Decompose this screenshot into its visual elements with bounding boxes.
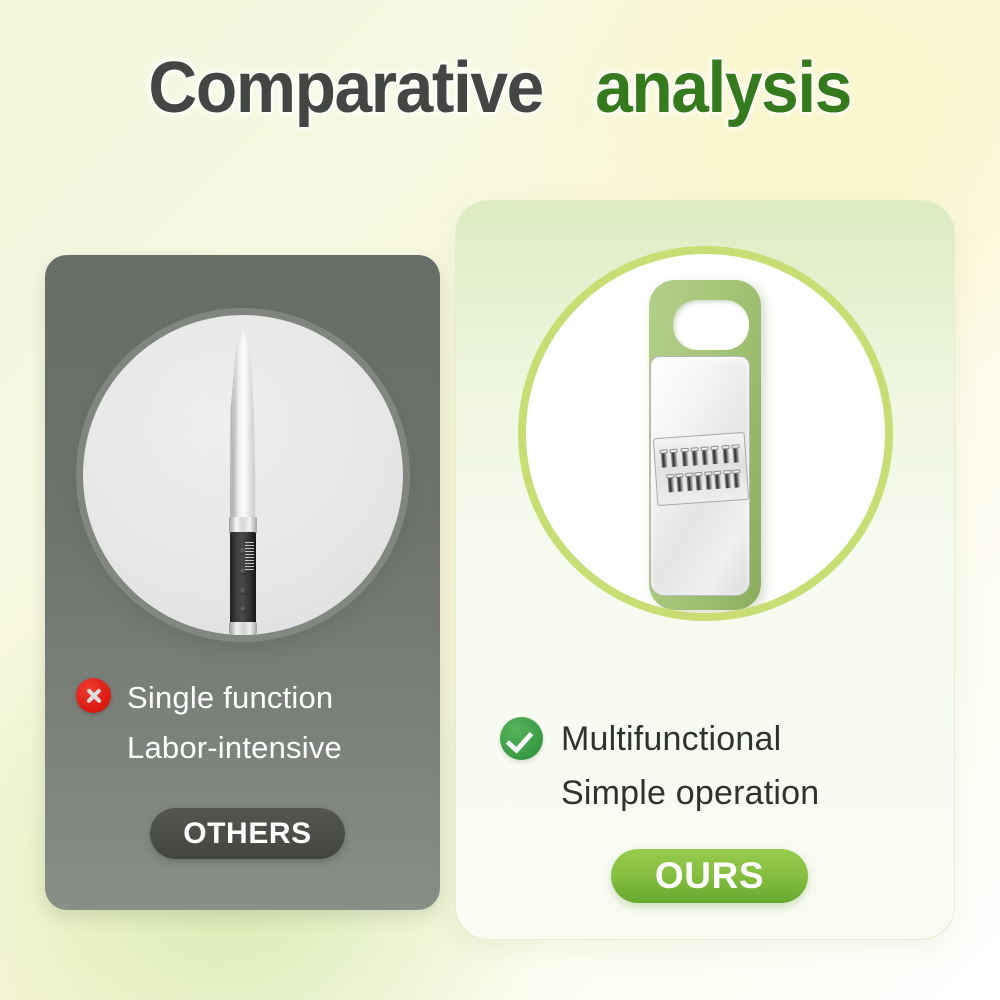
knife-end-cap [229, 622, 257, 635]
grater-tooth [722, 447, 729, 463]
feature-item: Single function [127, 673, 342, 723]
feature-lines-ours: Multifunctional Simple operation [561, 713, 819, 820]
grater-tooth [667, 475, 674, 491]
product-image-circle-others [83, 315, 403, 635]
cross-icon [76, 678, 111, 713]
feature-item: Labor-intensive [127, 723, 342, 773]
knife-rivet [240, 588, 247, 595]
check-icon [500, 717, 543, 760]
grater-hang-hole [673, 300, 749, 350]
grater-tooth [660, 451, 667, 467]
feature-lines-others: Single function Labor-intensive [127, 673, 342, 773]
feature-item: Multifunctional [561, 713, 819, 767]
title-word-analysis: analysis [595, 48, 851, 128]
chef-knife-icon [216, 331, 270, 621]
grater-tooth [711, 447, 718, 463]
title-word-comparative: Comparative [149, 48, 543, 128]
badge-others[interactable]: OTHERS [150, 808, 345, 859]
grater-tooth [732, 446, 739, 462]
grater-tooth [704, 473, 711, 489]
badge-ours[interactable]: OURS [611, 849, 808, 903]
grater-tooth [686, 474, 693, 490]
feature-list-others: Single function Labor-intensive [76, 673, 421, 773]
grater-tooth [681, 449, 688, 465]
knife-rivet [240, 606, 247, 613]
infographic-canvas: Comparative analysis [0, 0, 1000, 1000]
grater-teeth-row [660, 446, 739, 467]
product-image-circle-ours [518, 246, 893, 621]
grater-teeth-row [662, 471, 741, 492]
handheld-grater-icon [643, 280, 769, 610]
knife-handle [230, 532, 256, 625]
grater-blade-plate [652, 432, 749, 506]
feature-list-ours: Multifunctional Simple operation [500, 713, 930, 820]
grater-tooth [701, 448, 708, 464]
knife-handle-texture [245, 540, 254, 570]
grater-tooth [676, 475, 683, 491]
page-title: Comparative analysis [0, 52, 1000, 124]
grater-tooth [691, 449, 698, 465]
grater-tooth [670, 450, 677, 466]
grater-tooth [714, 472, 721, 488]
grater-steel-panel [650, 356, 750, 596]
feature-item: Simple operation [561, 767, 819, 821]
comparison-card-ours: Multifunctional Simple operation OURS [455, 200, 955, 940]
grater-tooth [695, 473, 702, 489]
comparison-card-others: Single function Labor-intensive OTHERS [45, 255, 440, 910]
grater-tooth [723, 471, 730, 487]
grater-tooth [733, 471, 740, 487]
